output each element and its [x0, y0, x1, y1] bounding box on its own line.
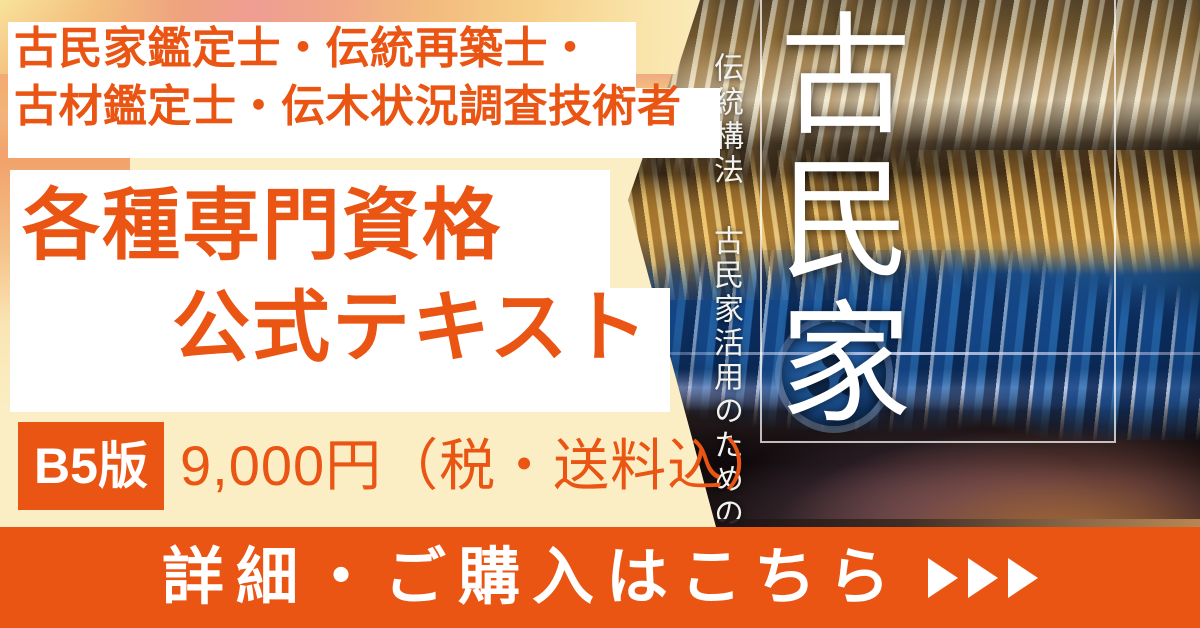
- promo-banner: 古民家 伝統構法 古民家活用のための調査と再生の 古民家鑑定士・伝統再築士・ 古…: [0, 0, 1200, 628]
- cta-arrows: [928, 558, 1038, 598]
- price-text: 9,000円（税・送料込）: [180, 424, 781, 508]
- cta-button[interactable]: 詳細・ご購入はこちら: [0, 527, 1200, 628]
- triangle-right-icon: [1008, 558, 1038, 598]
- qualifications-headline: 古民家鑑定士・伝統再築士・ 古材鑑定士・伝木状況調査技術者: [14, 20, 714, 136]
- triangle-right-icon: [928, 558, 958, 598]
- main-title-line2: 公式テキスト: [172, 288, 650, 366]
- cta-label: 詳細・ご購入はこちら: [162, 547, 902, 609]
- book-cover-title: 古民家: [790, 6, 910, 476]
- qualifications-headline-line2: 古材鑑定士・伝木状況調査技術者: [14, 78, 714, 136]
- qualifications-headline-line1: 古民家鑑定士・伝統再築士・: [14, 20, 714, 78]
- main-title-line1: 各種専門資格: [22, 186, 502, 264]
- triangle-right-icon: [968, 558, 998, 598]
- size-badge: B5版: [18, 422, 164, 510]
